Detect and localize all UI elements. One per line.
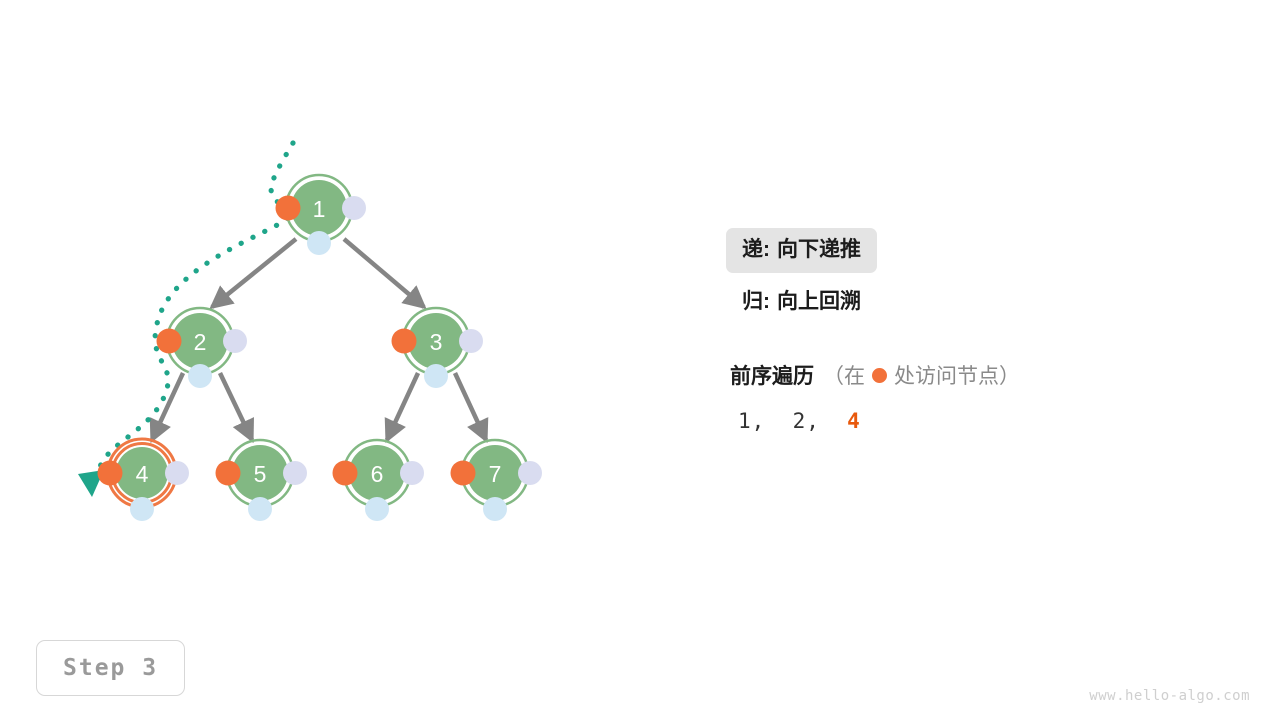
step-badge: Step 3 <box>36 640 185 696</box>
tree-node-7[interactable]: 7 <box>451 440 543 521</box>
node-2-bottom-dot-icon <box>188 364 212 388</box>
node-4-bottom-dot-icon <box>130 497 154 521</box>
node-1-visit-dot-icon <box>276 196 301 221</box>
sequence-visited: 1, 2, <box>738 409 847 433</box>
legend-backtrack-key: 归: <box>742 291 770 312</box>
traversal-note-open: （在 <box>823 360 865 390</box>
traversal-note: （在 处访问节点） <box>823 360 1020 390</box>
edge-1-2 <box>212 239 296 307</box>
node-3-right-dot-icon <box>459 329 483 353</box>
edge-2-5 <box>220 373 252 440</box>
node-3-visit-dot-icon <box>392 329 417 354</box>
tree-node-5[interactable]: 5 <box>216 440 308 521</box>
node-4-right-dot-icon <box>165 461 189 485</box>
traversal-note-close: 处访问节点） <box>894 360 1020 390</box>
tree-nodes: 1 2 3 <box>98 175 543 521</box>
traversal-name: 前序遍历 <box>730 360 814 390</box>
traversal-title-row: 前序遍历 （在 处访问节点） <box>730 360 1020 390</box>
node-5-visit-dot-icon <box>216 461 241 486</box>
node-4-visit-dot-icon <box>98 461 123 486</box>
node-6-visit-dot-icon <box>333 461 358 486</box>
edge-1-3 <box>344 239 424 307</box>
node-7-right-dot-icon <box>518 461 542 485</box>
node-3-bottom-dot-icon <box>424 364 448 388</box>
node-1-bottom-dot-icon <box>307 231 331 255</box>
tree-node-3[interactable]: 3 <box>392 308 484 388</box>
node-5-right-dot-icon <box>283 461 307 485</box>
legend-row-recurse: 递: 向下递推 <box>728 228 1248 273</box>
edge-2-4 <box>152 373 183 440</box>
figure-canvas: 1 2 3 <box>0 0 1280 720</box>
legend-backtrack-wrap: 归: 向上回溯 <box>728 280 875 325</box>
node-1-label: 1 <box>313 196 326 222</box>
tree-node-2[interactable]: 2 <box>157 308 248 388</box>
watermark: www.hello-algo.com <box>1089 688 1250 704</box>
node-1-right-dot-icon <box>342 196 366 220</box>
node-6-bottom-dot-icon <box>365 497 389 521</box>
node-4-label: 4 <box>136 461 149 487</box>
legend-recurse-highlight: 递: 向下递推 <box>726 228 877 273</box>
tree-node-4[interactable]: 4 <box>98 439 190 521</box>
sequence-current: 4 <box>847 409 861 433</box>
node-5-label: 5 <box>254 461 267 487</box>
orange-dot-icon <box>872 368 887 383</box>
tree-node-6[interactable]: 6 <box>333 440 425 521</box>
node-7-visit-dot-icon <box>451 461 476 486</box>
node-5-bottom-dot-icon <box>248 497 272 521</box>
node-7-label: 7 <box>489 461 502 487</box>
node-2-label: 2 <box>194 329 207 355</box>
node-3-label: 3 <box>430 329 443 355</box>
legend-row-backtrack: 归: 向上回溯 <box>728 280 1248 325</box>
traversal-block: 前序遍历 （在 处访问节点） <box>730 360 1020 390</box>
legend-recurse-key: 递: <box>742 239 770 260</box>
node-6-right-dot-icon <box>400 461 424 485</box>
node-7-bottom-dot-icon <box>483 497 507 521</box>
traversal-sequence: 1, 2, 4 <box>738 409 861 433</box>
legend-panel: 递: 向下递推 归: 向上回溯 <box>728 228 1248 325</box>
node-2-right-dot-icon <box>223 329 247 353</box>
legend-recurse-value: 向下递推 <box>777 239 861 260</box>
node-2-visit-dot-icon <box>157 329 182 354</box>
edge-3-6 <box>387 373 418 440</box>
node-6-label: 6 <box>371 461 384 487</box>
binary-tree-diagram: 1 2 3 <box>0 0 1280 720</box>
edge-3-7 <box>455 373 486 440</box>
legend-backtrack-value: 向上回溯 <box>777 291 861 312</box>
